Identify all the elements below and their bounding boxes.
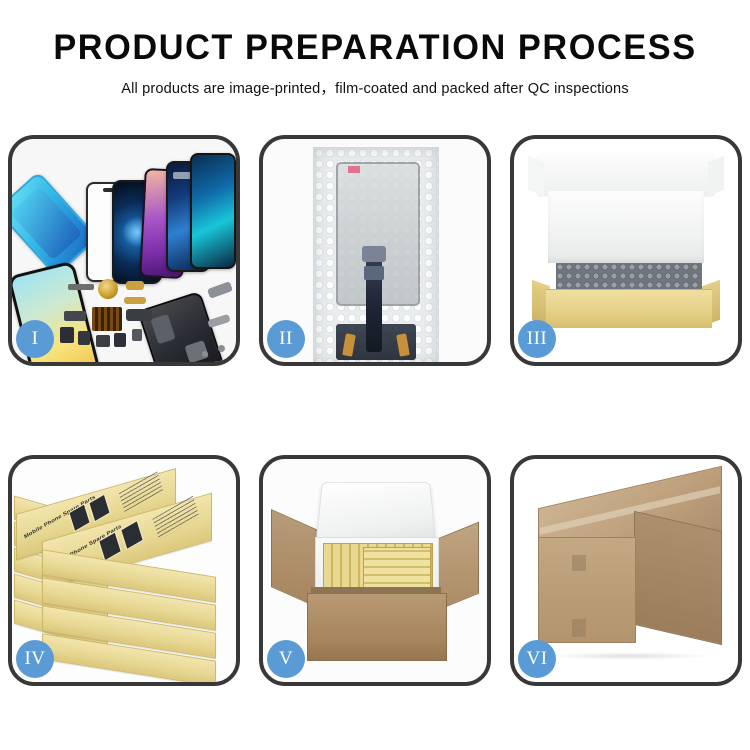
- carton-tape-patch-top: [572, 555, 586, 571]
- panel-badge-iv: IV: [16, 640, 54, 678]
- page-header: PRODUCT PREPARATION PROCESS All products…: [0, 0, 750, 98]
- bubble-wrap-bag: [313, 147, 439, 362]
- page-title: PRODUCT PREPARATION PROCESS: [8, 30, 743, 67]
- panel-badge-iii: III: [518, 320, 556, 358]
- panel-carton-loading[interactable]: V: [259, 455, 491, 686]
- small-part-f: [132, 329, 142, 341]
- small-part-e: [114, 333, 126, 347]
- yellow-boxes-row-2: [363, 547, 431, 591]
- panel-badge-ii: II: [267, 320, 305, 358]
- carton-shadow: [544, 652, 714, 660]
- panel-badge-i: I: [16, 320, 54, 358]
- foam-insert: [548, 191, 704, 263]
- pink-tape-label: [348, 166, 360, 173]
- box-print-window-4: [120, 520, 144, 550]
- small-part-d: [96, 335, 110, 347]
- foam-box-lid: [538, 153, 714, 195]
- screw-part-1: [218, 345, 225, 352]
- page-subtitle: All products are image-printed，film-coat…: [0, 77, 750, 98]
- connector-strip-part: [68, 284, 94, 290]
- panel-parts-collage[interactable]: I: [8, 135, 240, 366]
- box-print-spec-lines-rear: [119, 471, 164, 512]
- inner-box-front: [546, 289, 712, 328]
- lcd-connector: [362, 246, 386, 262]
- panel-stacked-retail-boxes[interactable]: Mobile Phone Spare Parts Mobile Phone Sp…: [8, 455, 240, 686]
- lcd-driver-ic: [364, 266, 384, 280]
- panel-bubble-wrapped-screen[interactable]: II: [259, 135, 491, 366]
- panel-badge-v: V: [267, 640, 305, 678]
- foam-lid-open: [316, 482, 436, 541]
- panel-sealed-carton[interactable]: VI: [510, 455, 742, 686]
- phone-screen-cyan: [190, 153, 236, 269]
- screw-part-2: [202, 351, 208, 357]
- panel-open-inner-box[interactable]: III: [510, 135, 742, 366]
- carton-front-wall: [307, 593, 447, 661]
- carton-right-face: [634, 511, 722, 645]
- vibration-motor-part: [98, 279, 118, 299]
- small-part-c: [78, 331, 90, 345]
- panel-badge-vi: VI: [518, 640, 556, 678]
- lcd-flex-cable: [366, 248, 382, 352]
- carton-tape-patch-bottom: [572, 619, 586, 637]
- small-part-a: [64, 311, 86, 321]
- small-part-b: [60, 327, 74, 343]
- bubble-wrapped-contents: [556, 263, 702, 289]
- carton-front-face: [538, 537, 636, 643]
- flex-cable-part-1: [126, 281, 144, 290]
- ribbon-cable-part: [126, 309, 152, 321]
- chip-grid-part: [92, 307, 122, 331]
- process-panel-grid: I II III: [8, 135, 742, 686]
- flex-cable-part-2: [124, 297, 146, 304]
